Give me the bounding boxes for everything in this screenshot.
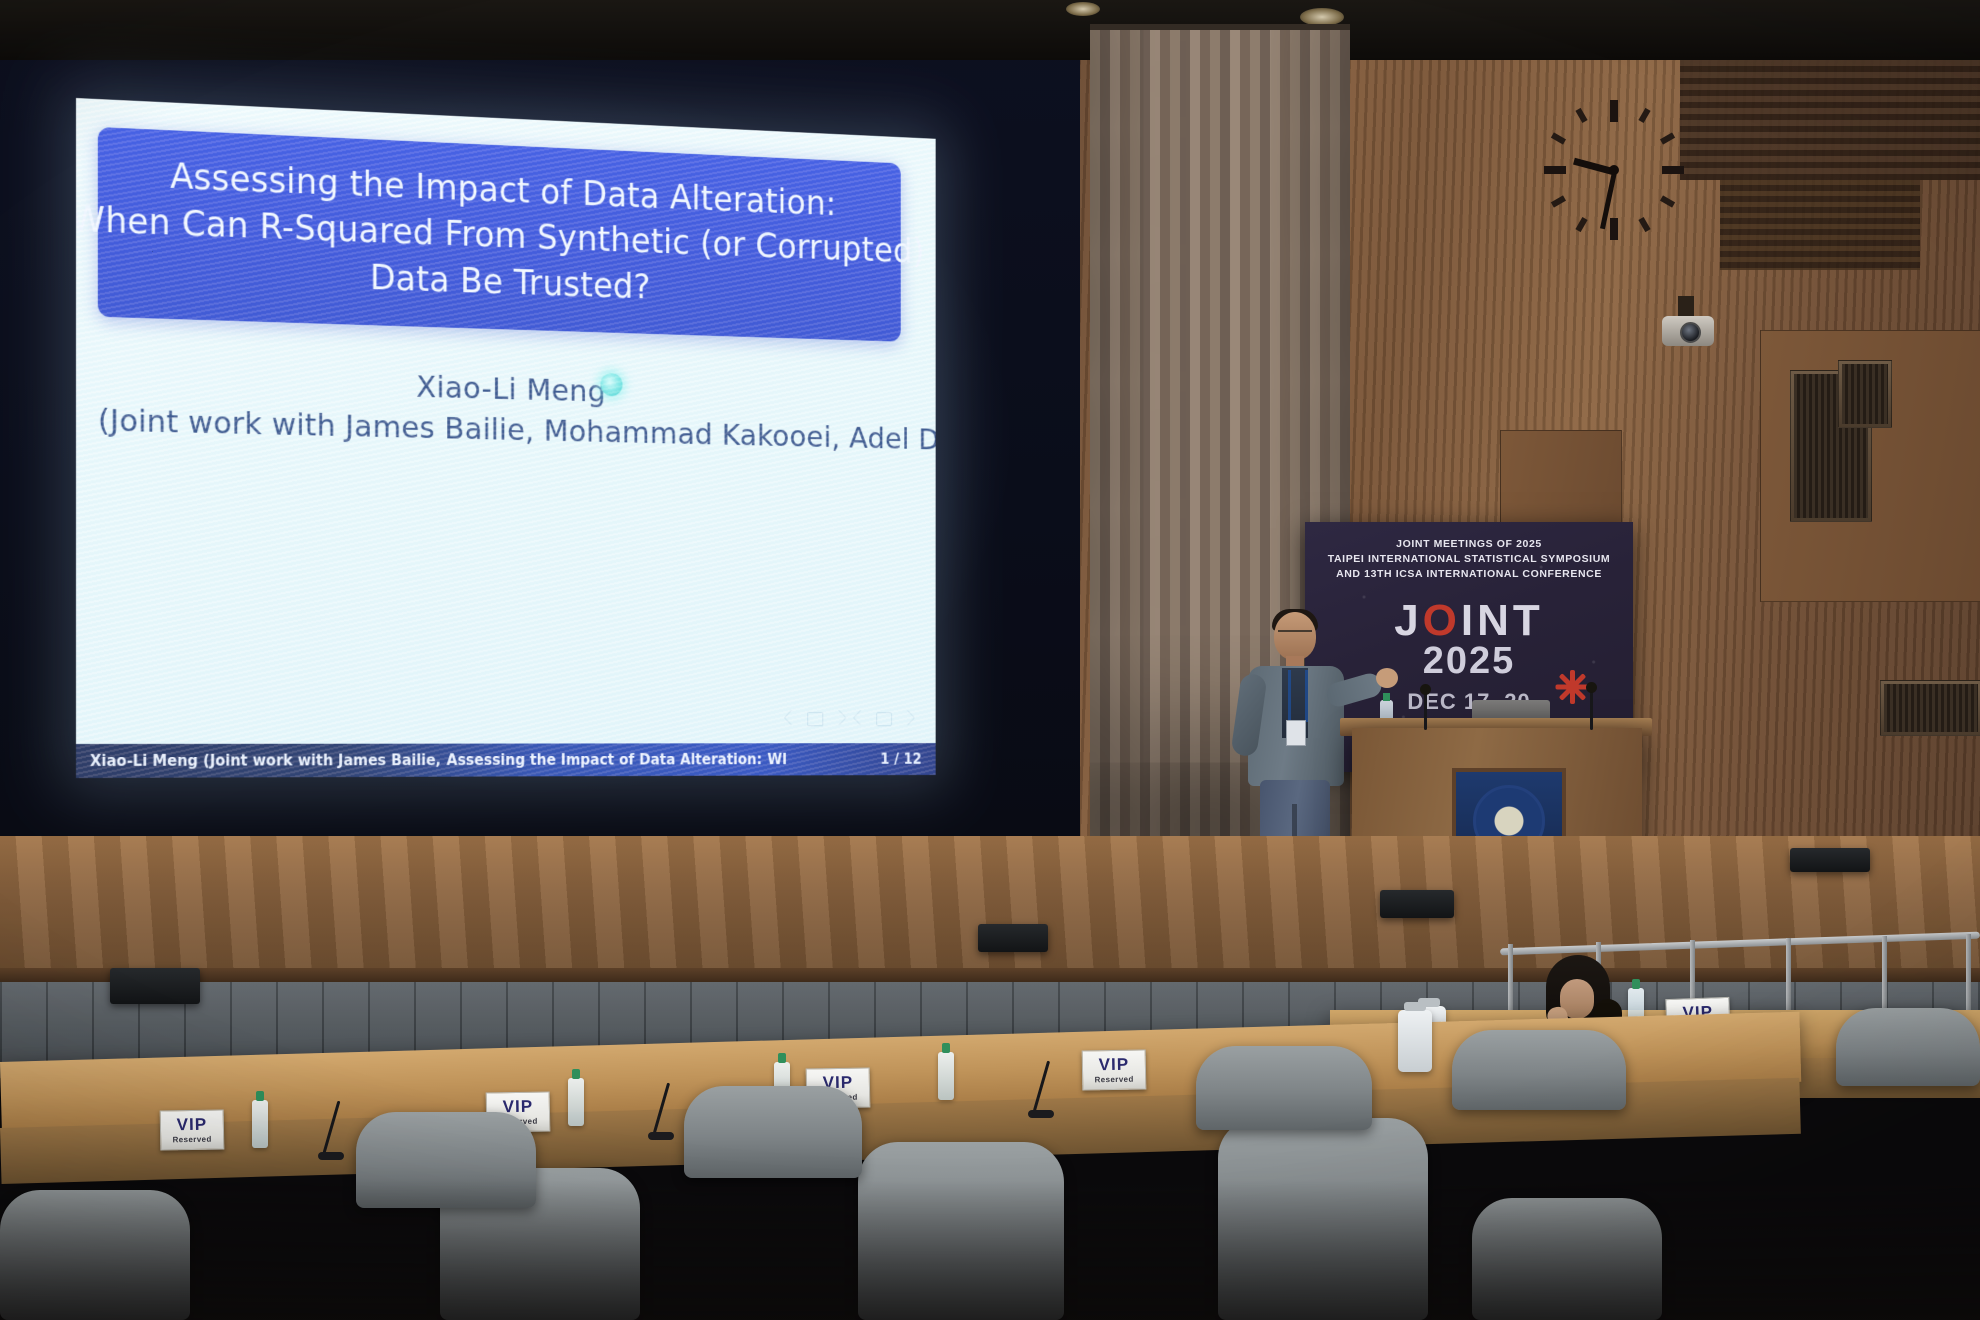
vip-sign-subtitle: Reserved [1094, 1075, 1133, 1085]
vip-reserved-sign: VIP Reserved [1082, 1049, 1147, 1090]
stage-floor-monitor [1790, 848, 1870, 872]
clock-tick [1551, 132, 1566, 144]
vip-sign-subtitle: Reserved [172, 1135, 211, 1145]
laser-pointer-dot-icon [601, 373, 623, 397]
vip-sign-title: VIP [177, 1116, 208, 1134]
clock-tick [1660, 132, 1675, 144]
banner-logo-o-highlight: O [1423, 596, 1461, 645]
slide-joint-work-line: (Joint work with James Bailie, Mohammad … [98, 403, 901, 457]
clock-center-pin [1609, 165, 1619, 175]
mic-base [1028, 1110, 1054, 1118]
lecture-hall-scene: Assessing the Impact of Data Alteration:… [0, 0, 1980, 1320]
banner-line-3: AND 13TH ICSA INTERNATIONAL CONFERENCE [1305, 568, 1633, 580]
clock-tick [1638, 217, 1650, 232]
stage-floor-monitor [110, 968, 200, 1004]
status-bar-title-tail: WI [762, 751, 787, 768]
projected-slide: Assessing the Impact of Data Alteration:… [76, 98, 936, 778]
prev-arrow-icon[interactable] [784, 710, 799, 726]
slide-author-name: Xiao-Li Meng [416, 369, 606, 409]
vip-reserved-sign: VIP Reserved [160, 1109, 225, 1150]
ceiling-vent-grille-secondary [1720, 180, 1920, 270]
presenter-gesturing-hand [1376, 668, 1398, 688]
clock-tick [1551, 195, 1566, 207]
camera-lens-icon [1680, 322, 1701, 343]
clock-tick [1638, 108, 1650, 123]
audience-chair [1836, 1008, 1980, 1086]
stage-floor-monitor [978, 924, 1048, 952]
frame-icon[interactable] [807, 712, 823, 726]
mic-gooseneck [1424, 690, 1427, 730]
foreground-shadow [0, 1180, 1980, 1320]
clock-hour-hand [1573, 158, 1615, 176]
next-arrow-icon[interactable] [832, 710, 847, 726]
clock-tick [1575, 108, 1587, 123]
wall-clock [1540, 96, 1688, 244]
slide-author-block: Xiao-Li Meng (Joint work with James Bail… [98, 361, 901, 456]
glasses-icon [1278, 630, 1312, 640]
ceiling-vent-grille [1680, 60, 1980, 180]
status-bar-author: Xiao-Li Meng (Joint work with James Bail… [76, 751, 441, 770]
projection-screen-frame: Assessing the Impact of Data Alteration:… [76, 98, 936, 778]
audience-chair [1196, 1046, 1372, 1130]
clock-tick [1575, 217, 1587, 232]
status-bar-title: Assessing the Impact of Data Alteration: [441, 751, 762, 769]
stage-floor-monitor [1380, 890, 1454, 918]
clock-tick [1610, 100, 1618, 122]
status-bar-page-number: 1 / 12 [880, 751, 935, 768]
audience-water-bottle [568, 1078, 584, 1126]
ceiling [0, 0, 1980, 60]
audience-chair [684, 1086, 862, 1178]
clock-tick [1544, 166, 1566, 174]
slide-title-banner: Assessing the Impact of Data Alteration:… [98, 127, 901, 342]
banner-line-1: JOINT MEETINGS OF 2025 [1305, 538, 1633, 550]
audience-tumbler [1398, 1010, 1432, 1072]
banner-line-2: TAIPEI INTERNATIONAL STATISTICAL SYMPOSI… [1305, 553, 1633, 565]
beamer-navigation-icons[interactable] [786, 712, 913, 726]
mic-head-icon [1586, 682, 1597, 693]
section-icon[interactable] [876, 712, 892, 726]
wall-speaker [1880, 680, 1980, 736]
mic-base [648, 1132, 674, 1140]
slide-title-line-3: Data Be Trusted? [370, 256, 651, 310]
clock-tick [1662, 166, 1684, 174]
audience-water-bottle [938, 1052, 954, 1100]
clock-tick [1610, 218, 1618, 240]
wall-speaker [1838, 360, 1892, 428]
railing-bar [1500, 932, 1980, 956]
presenter-name-badge [1286, 720, 1306, 746]
speaker-grille [1884, 684, 1978, 732]
mic-gooseneck [1590, 688, 1593, 730]
audience-water-bottle [252, 1100, 268, 1148]
clock-tick [1660, 195, 1675, 207]
banner-starburst-icon [1555, 670, 1589, 704]
beamer-status-bar: Xiao-Li Meng (Joint work with James Bail… [76, 743, 936, 778]
prev-section-icon[interactable] [853, 710, 868, 726]
presenter-lanyard [1288, 670, 1308, 722]
speaker-grille [1842, 364, 1888, 424]
next-section-icon[interactable] [900, 710, 915, 726]
mic-head-icon [1420, 684, 1431, 695]
mic-base [318, 1152, 344, 1160]
vip-sign-title: VIP [1099, 1056, 1130, 1074]
audience-chair [1452, 1030, 1626, 1110]
ceiling-downlight [1066, 2, 1100, 16]
author-name-text: Xiao-Li Meng [416, 369, 606, 409]
